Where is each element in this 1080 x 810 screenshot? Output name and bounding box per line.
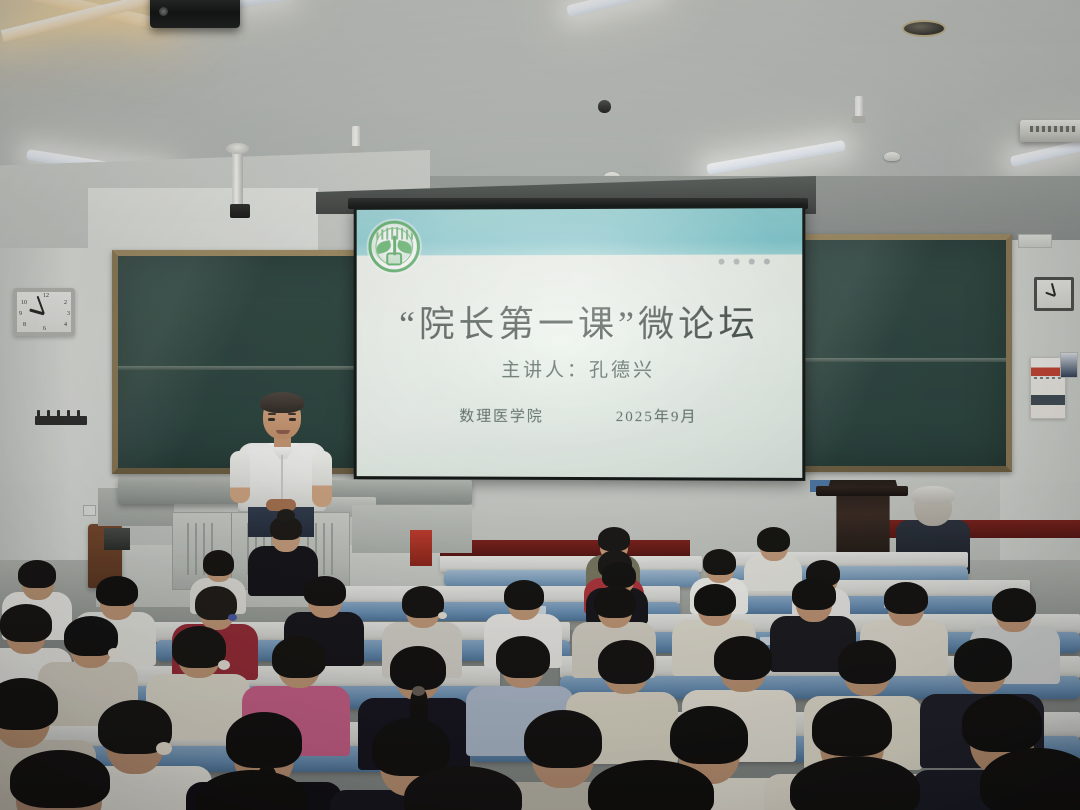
person-hair xyxy=(272,636,326,678)
hair-scrunchie xyxy=(218,660,230,670)
slide-school: 数理医学院 xyxy=(459,405,544,426)
person-hair xyxy=(838,640,896,684)
person-hair xyxy=(496,636,550,678)
slide-header-band xyxy=(357,208,803,255)
lectern-top xyxy=(816,486,908,496)
projector-lens-icon xyxy=(159,7,168,16)
person-hair xyxy=(792,578,836,610)
stage-edge-trim xyxy=(440,540,690,556)
speaker-hair xyxy=(260,392,304,413)
hair-scrunchie xyxy=(108,648,120,658)
person-hair xyxy=(812,698,892,756)
projection-screen: “院长第一课”微论坛 主讲人：孔德兴 数理医学院 2025年9月 xyxy=(354,204,806,481)
ceiling-projector xyxy=(1020,120,1080,142)
wall-clock-left: 12 2 3 4 6 8 9 10 xyxy=(13,288,75,336)
lecture-hall-photo: 12 2 3 4 6 8 9 10 xyxy=(0,0,1080,810)
person-hair xyxy=(18,560,56,588)
person-hair xyxy=(524,710,602,768)
hair-scrunchie xyxy=(412,686,425,696)
ceiling-vent-icon xyxy=(902,20,946,37)
attendee-grey-hair xyxy=(911,486,955,504)
person-hair xyxy=(694,584,736,616)
wall-notice xyxy=(1060,352,1078,378)
person-hair xyxy=(703,549,736,575)
person-hair xyxy=(670,706,748,764)
person-hair xyxy=(602,562,636,588)
desk-projector xyxy=(150,0,240,28)
speaker-person xyxy=(236,395,328,525)
person-hair xyxy=(203,550,234,576)
person-hair xyxy=(954,638,1012,682)
red-folder xyxy=(410,530,432,566)
person-hair xyxy=(992,588,1036,622)
sprinkler-head-icon xyxy=(855,96,863,118)
seat-row xyxy=(444,570,700,587)
speaker-arm-right xyxy=(312,451,332,507)
university-logo-icon xyxy=(369,221,420,273)
person-hair xyxy=(884,582,928,614)
smoke-detector-icon xyxy=(884,152,900,161)
coat-hook-rack xyxy=(35,416,87,425)
hair-scrunchie xyxy=(156,742,172,755)
slide-presenter: 主讲人：孔德兴 xyxy=(357,355,803,382)
person-hair xyxy=(226,712,302,768)
person-hair xyxy=(594,586,636,618)
projector-mount-head xyxy=(230,204,250,218)
wall-clock-right xyxy=(1034,277,1074,311)
slide-decor-dots xyxy=(718,259,769,265)
person-hair xyxy=(962,694,1042,752)
presentation-slide: “院长第一课”微论坛 主讲人：孔德兴 数理医学院 2025年9月 xyxy=(357,208,803,478)
slide-date: 2025年9月 xyxy=(616,405,698,426)
person-hair xyxy=(714,636,772,680)
blackboard-right xyxy=(794,234,1012,472)
sprinkler-head-icon xyxy=(352,126,360,148)
person-hair xyxy=(390,646,446,690)
person-hair-bun xyxy=(277,509,295,522)
slide-footer: 数理医学院 2025年9月 xyxy=(357,405,803,427)
person-hair xyxy=(598,527,630,551)
wall-duct xyxy=(1018,234,1052,248)
hair-scrunchie xyxy=(228,614,237,621)
clock-face: 12 2 3 4 6 8 9 10 xyxy=(17,292,71,332)
person-hair xyxy=(372,718,450,776)
speaker-arm-left xyxy=(230,451,250,503)
person-hair xyxy=(196,770,308,810)
clock-face xyxy=(1037,280,1071,308)
security-camera-icon xyxy=(598,100,611,113)
person-hair xyxy=(757,527,790,552)
slide-title: “院长第一课”微论坛 xyxy=(357,295,803,347)
person-hair xyxy=(504,580,544,610)
person-hair xyxy=(10,750,110,808)
person-hair xyxy=(0,604,52,642)
person-hair xyxy=(304,576,346,606)
person-hair xyxy=(96,576,138,606)
desk-control-panel[interactable] xyxy=(104,528,130,550)
seat-row xyxy=(700,596,1030,615)
person-hair xyxy=(598,640,654,684)
hanging-pole xyxy=(232,150,243,208)
hair-scrunchie xyxy=(438,612,447,619)
wall-socket xyxy=(83,505,96,516)
